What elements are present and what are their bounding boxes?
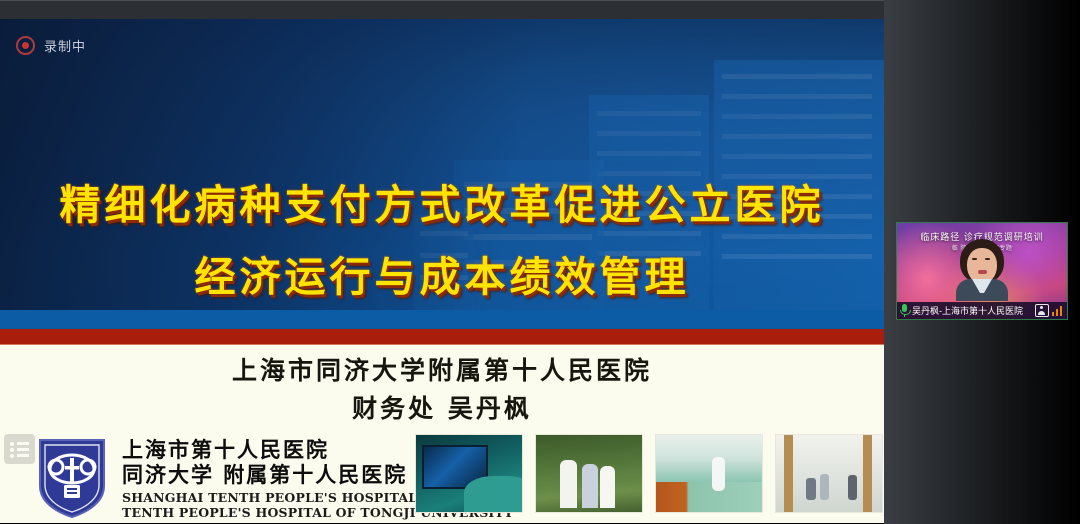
- video-sidebar-panel[interactable]: 临床路径 诊疗规范调研培训 临 院精细化管理专题 吴丹枫-上海市第十人民医院: [884, 0, 1080, 524]
- recording-label: 录制中: [44, 36, 86, 55]
- photo-doctors-outdoor: [535, 434, 643, 513]
- photo-nurse-station: [655, 434, 763, 513]
- slide-title-block: 精细化病种支付方式改革促进公立医院 经济运行与成本绩效管理: [0, 169, 884, 310]
- signal-bars-icon: [1052, 305, 1065, 316]
- slide-title-line-1: 精细化病种支付方式改革促进公立医院: [0, 169, 884, 241]
- participant-video-tile[interactable]: 临床路径 诊疗规范调研培训 临 院精细化管理专题 吴丹枫-上海市第十人民医院: [896, 222, 1068, 320]
- presentation-slide[interactable]: 精细化病种支付方式改革促进公立医院 经济运行与成本绩效管理 上海市同济大学附属第…: [0, 19, 884, 523]
- hospital-shield-logo: [36, 436, 108, 520]
- microphone-icon[interactable]: [900, 304, 909, 317]
- subtitle-presenter: 财务处 吴丹枫: [0, 389, 884, 425]
- bulleted-list-icon[interactable]: [4, 434, 35, 464]
- participant-name-bar: 吴丹枫-上海市第十人民医院: [897, 302, 1067, 319]
- photo-ward-corridor: [775, 434, 883, 513]
- record-dot-icon: [16, 36, 35, 55]
- divider-band-blue: [0, 310, 884, 329]
- top-system-bar: [0, 0, 884, 19]
- screen-root: 精细化病种支付方式改革促进公立医院 经济运行与成本绩效管理 上海市同济大学附属第…: [0, 0, 1080, 524]
- participant-video-icon[interactable]: [1035, 304, 1049, 317]
- slide-title-line-2: 经济运行与成本绩效管理: [0, 241, 884, 310]
- participant-name-label: 吴丹枫-上海市第十人民医院: [912, 304, 1032, 317]
- photo-strip: [415, 434, 875, 513]
- divider-band-red: [0, 329, 884, 345]
- presenter-figure: [956, 239, 1008, 301]
- slide-footer-area: 上海市同济大学附属第十人民医院 财务处 吴丹枫: [0, 345, 884, 523]
- recording-indicator[interactable]: 录制中: [16, 36, 86, 55]
- photo-surgery-imaging: [415, 434, 523, 513]
- subtitle-organization: 上海市同济大学附属第十人民医院: [0, 351, 884, 387]
- slide-hero-image: 精细化病种支付方式改革促进公立医院 经济运行与成本绩效管理: [0, 19, 884, 310]
